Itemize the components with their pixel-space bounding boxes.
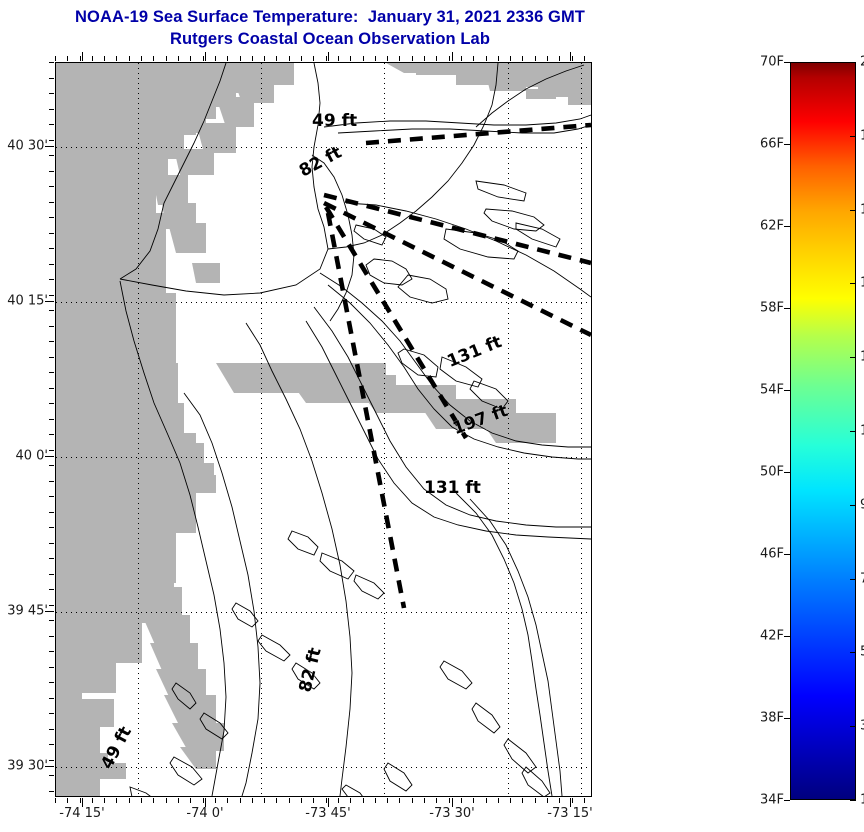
x-axis-minor-tick xyxy=(80,798,81,803)
y-axis-minor-tick xyxy=(49,744,54,745)
colorbar-tick-fahrenheit xyxy=(784,800,790,801)
x-axis-minor-tick-top xyxy=(240,56,241,61)
x-axis-minor-tick xyxy=(572,798,573,803)
page-title: NOAA-19 Sea Surface Temperature: January… xyxy=(0,0,660,50)
x-axis-minor-tick-top xyxy=(276,56,277,61)
x-axis-minor-tick-top xyxy=(584,56,585,61)
x-axis-minor-tick xyxy=(461,798,462,803)
x-axis-label-0: -74 15' xyxy=(59,806,104,821)
x-axis-minor-tick xyxy=(92,798,93,803)
colorbar-tick-celsius xyxy=(850,357,856,358)
y-axis-minor-tick xyxy=(49,481,54,482)
colorbar-tick-celsius xyxy=(850,579,856,580)
x-axis-minor-tick-top xyxy=(153,56,154,61)
y-axis-minor-tick xyxy=(49,155,54,156)
x-axis-minor-tick xyxy=(116,798,117,803)
y-axis-minor-tick xyxy=(49,698,54,699)
x-axis-minor-tick xyxy=(424,798,425,803)
x-axis-minor-tick-top xyxy=(166,56,167,61)
y-axis-minor-tick xyxy=(49,78,54,79)
colorbar-label-celsius: 19C xyxy=(860,129,864,144)
y-axis-minor-tick xyxy=(49,713,54,714)
x-axis-minor-tick xyxy=(559,798,560,803)
x-axis-label-4: -73 15' xyxy=(547,806,592,821)
x-axis-minor-tick xyxy=(412,798,413,803)
y-axis-minor-tick xyxy=(49,434,54,435)
colorbar-tick-celsius xyxy=(850,431,856,432)
x-axis-label-1: -74 0' xyxy=(186,806,223,821)
y-axis-minor-tick xyxy=(49,419,54,420)
x-axis-minor-tick xyxy=(326,798,327,803)
y-axis-minor-tick xyxy=(49,124,54,125)
x-axis-minor-tick-top xyxy=(116,56,117,61)
x-axis-minor-tick-top xyxy=(141,56,142,61)
x-axis-minor-tick-top xyxy=(449,56,450,61)
colorbar-tick-fahrenheit xyxy=(784,144,790,145)
x-axis-minor-tick xyxy=(547,798,548,803)
colorbar-tick-fahrenheit xyxy=(784,472,790,473)
x-axis-minor-tick xyxy=(67,798,68,803)
colorbar-label-fahrenheit: 70F xyxy=(748,55,784,70)
x-axis-major-tick-top xyxy=(205,52,206,61)
x-axis-minor-tick-top xyxy=(80,56,81,61)
gridline-vertical xyxy=(581,63,582,796)
x-axis-minor-tick-top xyxy=(375,56,376,61)
colorbar[interactable] xyxy=(790,62,856,800)
x-axis-minor-tick xyxy=(153,798,154,803)
x-axis-minor-tick xyxy=(141,798,142,803)
y-axis-minor-tick xyxy=(49,512,54,513)
y-axis-minor-tick xyxy=(49,574,54,575)
y-axis-minor-tick xyxy=(49,295,54,296)
x-axis-minor-tick-top xyxy=(289,56,290,61)
colorbar-label-fahrenheit: 62F xyxy=(748,219,784,234)
y-axis-label-0: 40 30' xyxy=(0,139,48,154)
x-axis-minor-tick-top xyxy=(547,56,548,61)
x-axis-minor-tick xyxy=(338,798,339,803)
x-axis-minor-tick-top xyxy=(264,56,265,61)
y-axis-label-3: 39 45' xyxy=(0,604,48,619)
y-axis-minor-tick xyxy=(49,620,54,621)
x-axis-minor-tick xyxy=(436,798,437,803)
x-axis-minor-tick xyxy=(449,798,450,803)
x-axis-minor-tick xyxy=(584,798,585,803)
x-axis-minor-tick-top xyxy=(301,56,302,61)
y-axis-label-1: 40 15' xyxy=(0,294,48,309)
y-axis-minor-tick xyxy=(49,791,54,792)
x-axis-minor-tick-top xyxy=(498,56,499,61)
x-axis-minor-tick xyxy=(473,798,474,803)
x-axis-minor-tick-top xyxy=(338,56,339,61)
colorbar-tick-celsius xyxy=(850,62,856,63)
colorbar-tick-celsius xyxy=(850,283,856,284)
y-axis-minor-tick xyxy=(49,279,54,280)
x-axis-minor-tick-top xyxy=(535,56,536,61)
gridline-horizontal xyxy=(56,767,591,768)
x-axis-minor-tick-top xyxy=(252,56,253,61)
x-axis-minor-tick xyxy=(166,798,167,803)
x-axis-minor-tick xyxy=(215,798,216,803)
y-axis-minor-tick xyxy=(49,341,54,342)
colorbar-label-celsius: 3C xyxy=(860,719,864,734)
x-axis-minor-tick xyxy=(350,798,351,803)
y-axis-minor-tick xyxy=(49,93,54,94)
x-axis-minor-tick xyxy=(289,798,290,803)
gridline-horizontal xyxy=(56,457,591,458)
colorbar-label-celsius: 17C xyxy=(860,203,864,218)
colorbar-label-celsius: 13C xyxy=(860,350,864,365)
x-axis-minor-tick-top xyxy=(363,56,364,61)
x-axis-major-tick-top xyxy=(452,52,453,61)
title-line-secondary: Rutgers Coastal Ocean Observation Lab xyxy=(0,28,660,50)
y-axis-minor-tick xyxy=(49,233,54,234)
x-axis-minor-tick-top xyxy=(399,56,400,61)
gridline-vertical xyxy=(384,63,385,796)
y-axis-minor-tick xyxy=(49,496,54,497)
landmask-layer xyxy=(56,63,591,796)
x-axis-label-3: -73 30' xyxy=(429,806,474,821)
colorbar-tick-fahrenheit xyxy=(784,390,790,391)
colorbar-tick-celsius xyxy=(850,652,856,653)
x-axis-minor-tick xyxy=(535,798,536,803)
x-axis-minor-tick-top xyxy=(92,56,93,61)
x-axis-minor-tick-top xyxy=(178,56,179,61)
y-axis-minor-tick xyxy=(49,558,54,559)
y-axis-minor-tick xyxy=(49,543,54,544)
x-axis-minor-tick xyxy=(510,798,511,803)
x-axis-minor-tick-top xyxy=(350,56,351,61)
x-axis-minor-tick-top xyxy=(326,56,327,61)
x-axis-minor-tick xyxy=(375,798,376,803)
colorbar-label-celsius: 7C xyxy=(860,572,864,587)
x-axis-minor-tick xyxy=(313,798,314,803)
x-axis-minor-tick-top xyxy=(559,56,560,61)
x-axis-minor-tick xyxy=(498,798,499,803)
y-axis-minor-tick xyxy=(49,62,54,63)
gridline-horizontal xyxy=(56,612,591,613)
colorbar-tick-fahrenheit xyxy=(784,308,790,309)
y-axis-minor-tick xyxy=(49,171,54,172)
colorbar-gradient xyxy=(790,62,856,800)
x-axis-minor-tick xyxy=(486,798,487,803)
x-axis-minor-tick xyxy=(129,798,130,803)
colorbar-tick-celsius xyxy=(850,800,856,801)
y-axis-minor-tick xyxy=(49,729,54,730)
y-axis-minor-tick xyxy=(49,667,54,668)
x-axis-minor-tick xyxy=(399,798,400,803)
y-axis-minor-tick xyxy=(49,589,54,590)
colorbar-label-fahrenheit: 42F xyxy=(748,629,784,644)
colorbar-label-fahrenheit: 58F xyxy=(748,301,784,316)
x-axis-minor-tick-top xyxy=(55,56,56,61)
colorbar-label-celsius: 11C xyxy=(860,424,864,439)
y-axis-minor-tick xyxy=(49,775,54,776)
x-axis-minor-tick-top xyxy=(104,56,105,61)
y-axis-minor-tick xyxy=(49,310,54,311)
gridline-horizontal xyxy=(56,302,591,303)
x-axis-minor-tick xyxy=(190,798,191,803)
x-axis-minor-tick xyxy=(252,798,253,803)
x-axis-minor-tick xyxy=(522,798,523,803)
x-axis-minor-tick xyxy=(227,798,228,803)
colorbar-tick-celsius xyxy=(850,726,856,727)
y-axis-minor-tick xyxy=(49,636,54,637)
x-axis-minor-tick-top xyxy=(67,56,68,61)
x-axis-minor-tick xyxy=(301,798,302,803)
y-axis-label-2: 40 0' xyxy=(0,449,48,464)
y-axis-minor-tick xyxy=(49,372,54,373)
gridline-vertical xyxy=(261,63,262,796)
colorbar-label-fahrenheit: 66F xyxy=(748,137,784,152)
colorbar-label-celsius: 9C xyxy=(860,498,864,513)
colorbar-label-fahrenheit: 34F xyxy=(748,793,784,808)
depth-label-131ft-lower: 131 ft xyxy=(424,478,481,498)
y-axis-minor-tick xyxy=(49,527,54,528)
colorbar-tick-fahrenheit xyxy=(784,636,790,637)
x-axis-minor-tick xyxy=(387,798,388,803)
colorbar-label-celsius: 15C xyxy=(860,276,864,291)
y-axis-minor-tick xyxy=(49,682,54,683)
y-axis-minor-tick xyxy=(49,248,54,249)
x-axis-minor-tick xyxy=(276,798,277,803)
x-axis-minor-tick-top xyxy=(227,56,228,61)
y-axis-minor-tick xyxy=(49,202,54,203)
colorbar-tick-celsius xyxy=(850,210,856,211)
x-axis-minor-tick-top xyxy=(572,56,573,61)
colorbar-label-fahrenheit: 50F xyxy=(748,465,784,480)
x-axis-minor-tick xyxy=(363,798,364,803)
y-axis-minor-tick xyxy=(49,605,54,606)
y-axis-minor-tick xyxy=(49,217,54,218)
title-line-primary: NOAA-19 Sea Surface Temperature: January… xyxy=(0,6,660,28)
colorbar-label-celsius: 1C xyxy=(860,793,864,808)
colorbar-tick-celsius xyxy=(850,136,856,137)
y-axis-minor-tick xyxy=(49,140,54,141)
x-axis-minor-tick-top xyxy=(424,56,425,61)
colorbar-label-fahrenheit: 54F xyxy=(748,383,784,398)
x-axis-minor-tick-top xyxy=(215,56,216,61)
x-axis-minor-tick-top xyxy=(510,56,511,61)
colorbar-label-celsius: 21C xyxy=(860,55,864,70)
y-axis-minor-tick xyxy=(49,264,54,265)
x-axis-minor-tick-top xyxy=(412,56,413,61)
colorbar-tick-fahrenheit xyxy=(784,226,790,227)
x-axis-minor-tick xyxy=(104,798,105,803)
y-axis-minor-tick xyxy=(49,450,54,451)
map-canvas xyxy=(56,63,591,796)
x-axis-minor-tick-top xyxy=(190,56,191,61)
colorbar-label-fahrenheit: 46F xyxy=(748,547,784,562)
x-axis-minor-tick-top xyxy=(129,56,130,61)
colorbar-tick-fahrenheit xyxy=(784,718,790,719)
y-axis-minor-tick xyxy=(49,357,54,358)
x-axis-minor-tick-top xyxy=(486,56,487,61)
x-axis-major-tick-top xyxy=(570,52,571,61)
x-axis-minor-tick-top xyxy=(203,56,204,61)
x-axis-minor-tick-top xyxy=(387,56,388,61)
x-axis-minor-tick xyxy=(240,798,241,803)
y-axis-minor-tick xyxy=(49,760,54,761)
depth-label-49ft-north: 49 ft xyxy=(312,111,357,131)
y-axis-minor-tick xyxy=(49,388,54,389)
y-axis-minor-tick xyxy=(49,186,54,187)
sst-map[interactable] xyxy=(55,62,592,797)
x-axis-minor-tick xyxy=(178,798,179,803)
gridline-vertical xyxy=(138,63,139,796)
colorbar-tick-celsius xyxy=(850,505,856,506)
x-axis-minor-tick-top xyxy=(313,56,314,61)
x-axis-minor-tick xyxy=(55,798,56,803)
y-axis-minor-tick xyxy=(49,465,54,466)
y-axis-label-4: 39 30' xyxy=(0,759,48,774)
x-axis-major-tick-top xyxy=(82,52,83,61)
y-axis-minor-tick xyxy=(49,326,54,327)
x-axis-minor-tick xyxy=(203,798,204,803)
x-axis-major-tick-top xyxy=(328,52,329,61)
colorbar-label-celsius: 5C xyxy=(860,645,864,660)
y-axis-minor-tick xyxy=(49,403,54,404)
x-axis-minor-tick-top xyxy=(473,56,474,61)
x-axis-minor-tick-top xyxy=(522,56,523,61)
gridline-vertical xyxy=(508,63,509,796)
x-axis-minor-tick xyxy=(264,798,265,803)
y-axis-minor-tick xyxy=(49,651,54,652)
x-axis-label-2: -73 45' xyxy=(305,806,350,821)
x-axis-minor-tick-top xyxy=(436,56,437,61)
colorbar-label-fahrenheit: 38F xyxy=(748,711,784,726)
colorbar-tick-fahrenheit xyxy=(784,62,790,63)
y-axis-minor-tick xyxy=(49,109,54,110)
x-axis-minor-tick-top xyxy=(461,56,462,61)
colorbar-tick-fahrenheit xyxy=(784,554,790,555)
